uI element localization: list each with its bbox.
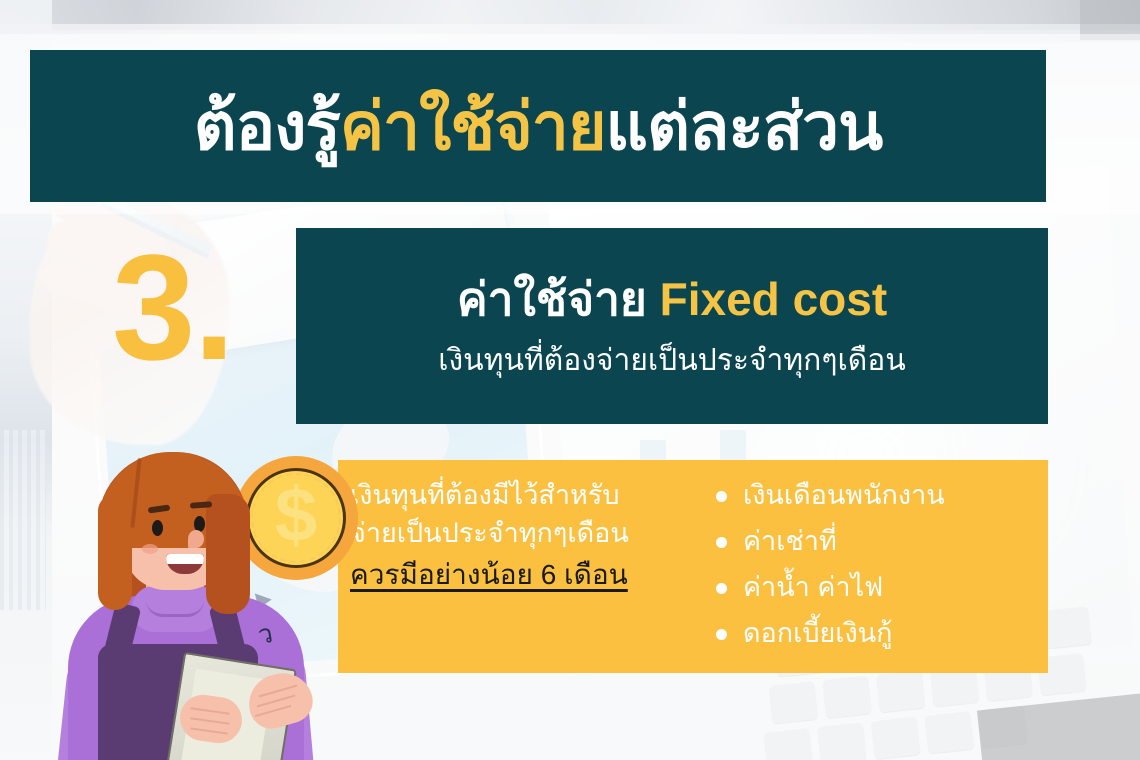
page-title-part2: แต่ละส่วน: [606, 89, 883, 163]
detail-panel: เงินทุนที่ต้องมีไว้สำหรับ จ่ายเป็นประจำท…: [338, 460, 1048, 673]
bullet-label: ค่าน้ำ ค่าไฟ: [743, 570, 883, 605]
woman-holding-tablet-illustration: ว: [62, 444, 322, 760]
infographic-canvas: ต้องรู้ค่าใช้จ่ายแต่ละส่วน 3. ค่าใช้จ่าย…: [0, 0, 1140, 760]
page-title: ต้องรู้ค่าใช้จ่ายแต่ละส่วน: [194, 93, 883, 159]
list-item: ค่าน้ำ ค่าไฟ: [716, 570, 1048, 605]
bullet-label: ดอกเบี้ยเงินกู้: [743, 616, 893, 651]
nose: [188, 530, 204, 548]
subject-description: เงินทุนที่ต้องจ่ายเป็นประจำทุกๆเดือน: [438, 343, 905, 379]
bullet-dot-icon: [716, 583, 727, 594]
page-title-highlight: ค่าใช้จ่าย: [340, 89, 606, 163]
subject-panel: ค่าใช้จ่าย Fixed cost เงินทุนที่ต้องจ่าย…: [296, 228, 1048, 424]
detail-left-column: เงินทุนที่ต้องมีไว้สำหรับ จ่ายเป็นประจำท…: [338, 460, 690, 673]
hair-side-right: [206, 494, 250, 614]
list-item: ค่าเช่าที่: [716, 524, 1048, 559]
hair-side-left: [98, 494, 132, 610]
eye-left: [152, 520, 163, 536]
collar-fold-line: [146, 600, 204, 617]
bullet-label: ค่าเช่าที่: [743, 524, 837, 559]
cheek-blush: [142, 544, 158, 554]
detail-line-1: เงินทุนที่ต้องมีไว้สำหรับ: [350, 476, 680, 514]
teeth: [166, 554, 204, 564]
subject-title: ค่าใช้จ่าย Fixed cost: [457, 273, 887, 326]
detail-line-2: จ่ายเป็นประจำทุกๆเดือน: [350, 514, 680, 552]
detail-emphasis-line: ควรมีอย่างน้อย 6 เดือน: [350, 555, 680, 596]
page-title-part1: ต้องรู้: [194, 89, 340, 163]
header-banner: ต้องรู้ค่าใช้จ่ายแต่ละส่วน: [30, 50, 1046, 202]
bullet-label: เงินเดือนพนักงาน: [743, 478, 945, 513]
bullet-dot-icon: [716, 629, 727, 640]
subject-title-thai: ค่าใช้จ่าย: [457, 273, 647, 325]
step-number: 3.: [112, 232, 233, 382]
list-item: ดอกเบี้ยเงินกู้: [716, 616, 1048, 651]
detail-bullet-list: เงินเดือนพนักงาน ค่าเช่าที่ ค่าน้ำ ค่าไฟ…: [690, 460, 1048, 673]
bullet-dot-icon: [716, 491, 727, 502]
bullet-dot-icon: [716, 537, 727, 548]
subject-title-en: Fixed cost: [660, 273, 888, 325]
list-item: เงินเดือนพนักงาน: [716, 478, 1048, 513]
